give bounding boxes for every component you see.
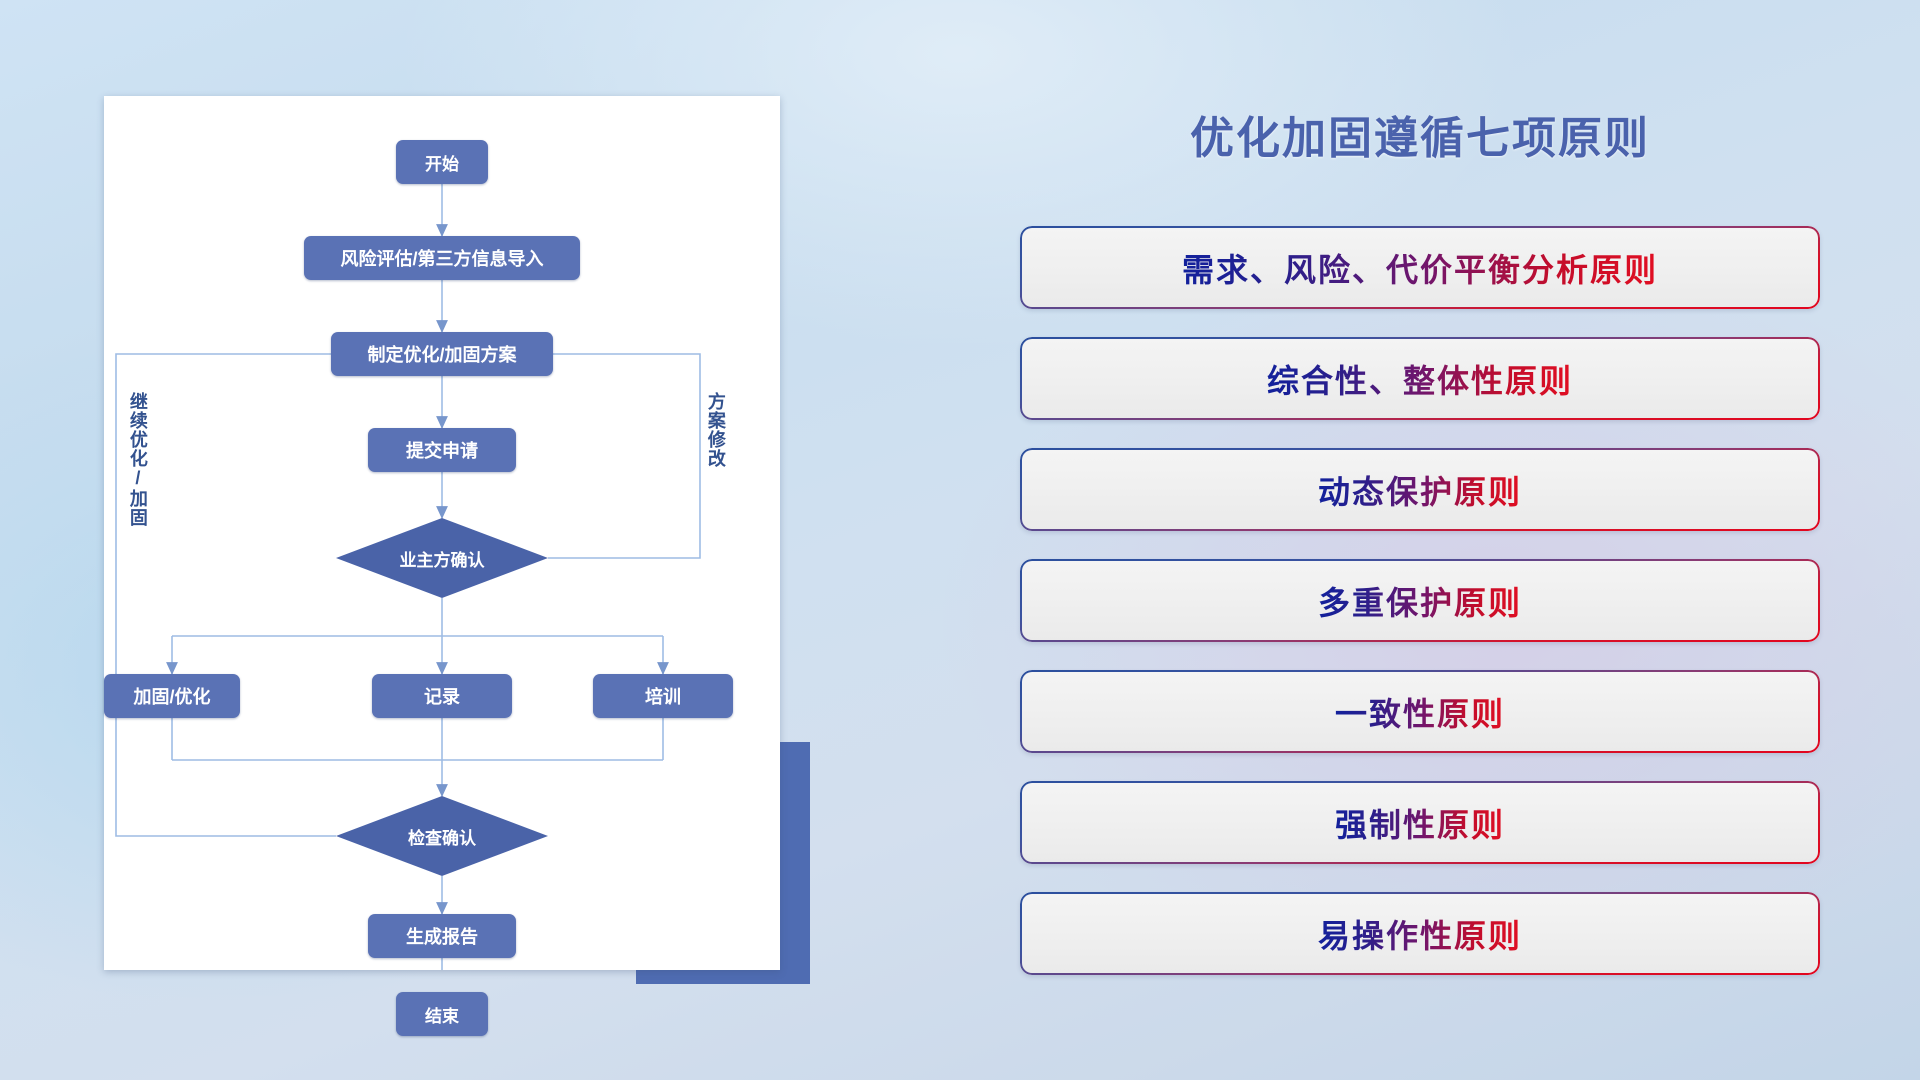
principle-card-3[interactable]: 动态保护原则 — [1020, 448, 1820, 531]
flowchart-card: 开始 风险评估/第三方信息导入 制定优化/加固方案 提交申请 业主方确认 加固/… — [104, 96, 780, 970]
principle-card-7-label: 易操作性原则 — [1318, 911, 1522, 957]
principle-card-4-label: 多重保护原则 — [1318, 578, 1522, 624]
principle-card-6-label: 强制性原则 — [1335, 800, 1505, 846]
flow-node-record-label: 记录 — [424, 683, 460, 709]
flow-node-plan[interactable]: 制定优化/加固方案 — [331, 332, 553, 376]
principle-card-1[interactable]: 需求、风险、代价平衡分析原则 — [1020, 226, 1820, 309]
principle-card-6[interactable]: 强制性原则 — [1020, 781, 1820, 864]
flow-decision-check-confirm-label: 检查确认 — [408, 824, 476, 849]
flow-node-reinforce[interactable]: 加固/优化 — [104, 674, 240, 718]
principle-card-1-label: 需求、风险、代价平衡分析原则 — [1182, 245, 1658, 291]
principle-card-4[interactable]: 多重保护原则 — [1020, 559, 1820, 642]
flow-node-risk-assessment[interactable]: 风险评估/第三方信息导入 — [304, 236, 580, 280]
principles-panel: 优化加固遵循七项原则 需求、风险、代价平衡分析原则 综合性、整体性原则 动态保护… — [1020, 96, 1840, 1016]
principle-card-7[interactable]: 易操作性原则 — [1020, 892, 1820, 975]
flow-edge-label-plan-revision: 方案修改 — [706, 392, 725, 532]
principle-card-5-label: 一致性原则 — [1335, 689, 1505, 735]
flow-edge-label-continue-optimize: 继续优化/加固 — [128, 392, 147, 592]
page-title: 优化加固遵循七项原则 — [1020, 102, 1820, 166]
flow-node-start[interactable]: 开始 — [396, 140, 488, 184]
flow-node-generate-report-label: 生成报告 — [406, 923, 478, 949]
principle-card-2[interactable]: 综合性、整体性原则 — [1020, 337, 1820, 420]
principle-card-5[interactable]: 一致性原则 — [1020, 670, 1820, 753]
flow-node-reinforce-label: 加固/优化 — [133, 683, 210, 709]
flow-node-start-label: 开始 — [425, 150, 459, 175]
flow-node-end-label: 结束 — [425, 1002, 459, 1027]
flow-node-end[interactable]: 结束 — [396, 992, 488, 1036]
flow-decision-owner-confirm[interactable]: 业主方确认 — [336, 518, 548, 598]
principle-card-2-label: 综合性、整体性原则 — [1267, 356, 1573, 402]
flow-node-generate-report[interactable]: 生成报告 — [368, 914, 516, 958]
flow-node-training[interactable]: 培训 — [593, 674, 733, 718]
flow-node-submit[interactable]: 提交申请 — [368, 428, 516, 472]
principles-list: 需求、风险、代价平衡分析原则 综合性、整体性原则 动态保护原则 多重保护原则 一… — [1020, 226, 1820, 1003]
principle-card-3-label: 动态保护原则 — [1318, 467, 1522, 513]
flow-node-record[interactable]: 记录 — [372, 674, 512, 718]
flow-decision-owner-confirm-label: 业主方确认 — [400, 546, 485, 571]
flow-node-risk-assessment-label: 风险评估/第三方信息导入 — [341, 245, 544, 271]
flow-node-submit-label: 提交申请 — [406, 437, 478, 463]
flow-node-plan-label: 制定优化/加固方案 — [367, 341, 516, 367]
flow-node-training-label: 培训 — [645, 683, 681, 709]
flow-decision-check-confirm[interactable]: 检查确认 — [336, 796, 548, 876]
